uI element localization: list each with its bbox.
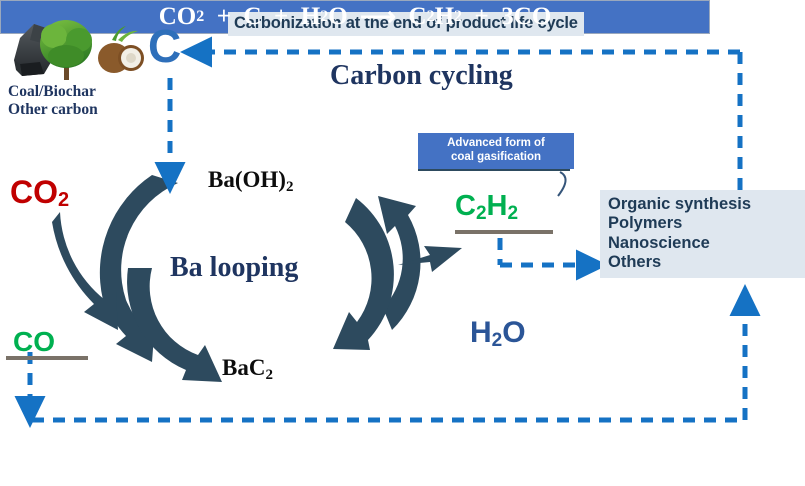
acetylene-h: H [487, 190, 508, 222]
application-item: Organic synthesis [608, 195, 805, 214]
advanced-callout-line2: coal gasification [420, 151, 572, 165]
carbon-cycling-diagram: Carbonization at the end of product life… [0, 0, 805, 486]
co2-label: CO2 [10, 176, 69, 210]
water-subscript: 2 [492, 330, 503, 351]
eq-part: O [328, 3, 360, 31]
overall-reaction-equation: CO2 + C + H2O ⟶ C2H2 + 3CO [0, 0, 710, 34]
advanced-gasification-callout: Advanced form of coal gasification [418, 133, 574, 169]
acetylene-sub2: 2 [507, 203, 518, 224]
barium-carbide-label: BaC2 [222, 356, 273, 383]
acetylene-sub1: 2 [476, 203, 487, 224]
eq-part: CO [159, 3, 197, 31]
eq-part: C [396, 3, 427, 31]
overall-reaction-bar: CO2 + C + H2O ⟶ C2H2 + 3CO [0, 0, 710, 34]
eq-part: + 3CO [462, 3, 551, 31]
eq-part: H [435, 3, 454, 31]
advanced-callout-line1: Advanced form of [420, 137, 572, 151]
acetylene-c: C [455, 190, 476, 222]
carbon-source-caption: Coal/Biochar Other carbon [8, 83, 98, 120]
eq-part: + C + H [204, 3, 320, 31]
eq-sub: 2 [427, 8, 435, 26]
application-item: Nanoscience [608, 234, 805, 253]
eq-sub: 2 [320, 8, 328, 26]
water-text: H [470, 316, 492, 349]
application-item: Others [608, 253, 805, 272]
ba-hydroxide-subscript: 2 [286, 179, 294, 195]
co2-subscript: 2 [58, 189, 69, 211]
acetylene-label: C2H2 [455, 192, 518, 223]
ba-hydroxide-label: Ba(OH)2 [208, 168, 293, 195]
applications-callout: Organic synthesis Polymers Nanoscience O… [600, 190, 805, 278]
application-item: Polymers [608, 214, 805, 233]
advanced-box-leader-curve [558, 172, 566, 196]
ba-hydroxide-text: Ba(OH) [208, 167, 286, 192]
water-tail: O [502, 316, 525, 349]
carbon-source-line1: Coal/Biochar [8, 83, 98, 101]
page-title: Carbon cycling [330, 62, 513, 90]
barium-carbide-text: BaC [222, 355, 265, 380]
barium-carbide-subscript: 2 [265, 367, 273, 383]
co2-text: CO [10, 174, 58, 210]
water-label: H2O [470, 318, 526, 350]
carbon-source-line2: Other carbon [8, 101, 98, 119]
cycle-arc-bottom-left [127, 268, 222, 382]
eq-arrow: ⟶ [360, 2, 396, 32]
cycle-center-label: Ba looping [170, 254, 298, 282]
eq-sub: 2 [196, 8, 204, 26]
eq-sub: 2 [454, 8, 462, 26]
co-label: CO [13, 328, 55, 356]
